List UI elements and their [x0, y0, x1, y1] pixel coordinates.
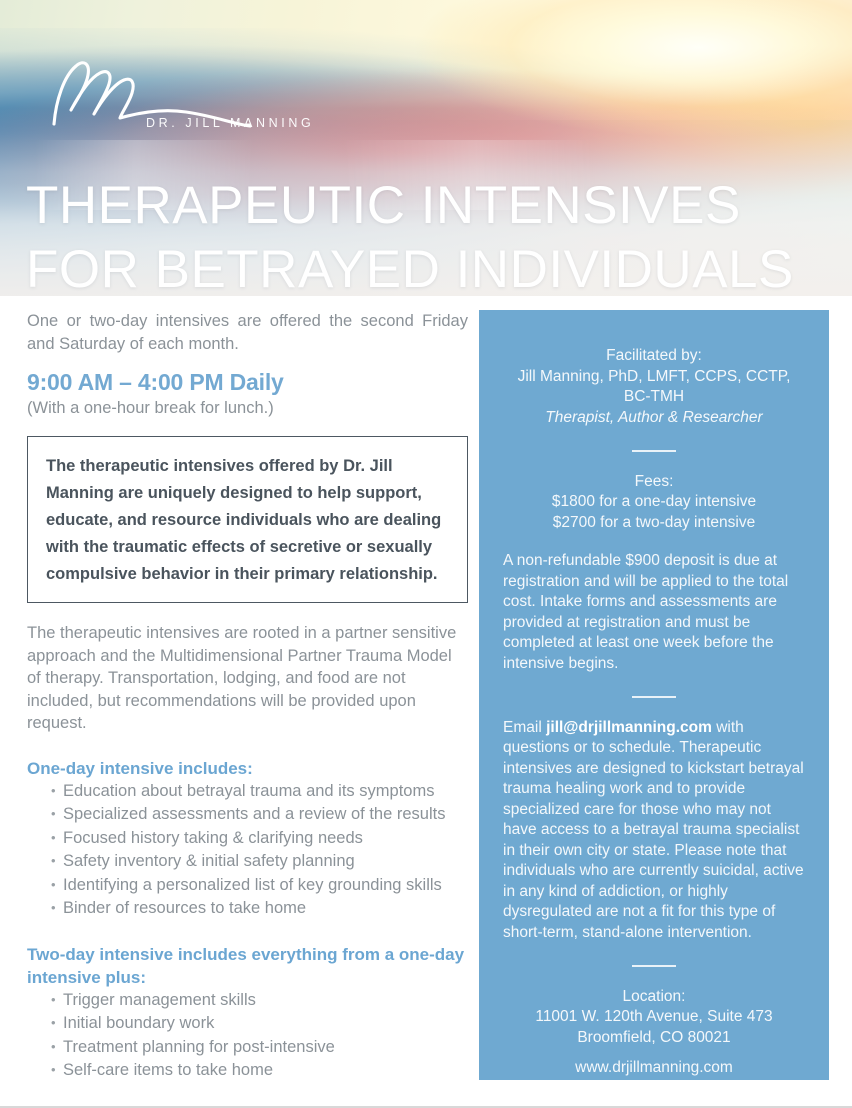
facilitator-name: Jill Manning, PhD, LMFT, CCPS, CCTP, BC-… [503, 367, 805, 408]
list-item: Safety inventory & initial safety planni… [51, 850, 468, 874]
email-paragraph: Email jill@drjillmanning.com with questi… [503, 718, 805, 944]
two-day-list: Trigger management skills Initial bounda… [27, 989, 468, 1083]
facilitated-label: Facilitated by: [503, 346, 805, 367]
spacer [503, 533, 805, 551]
address-line-1: 11001 W. 120th Avenue, Suite 473 [503, 1007, 805, 1028]
spacer [503, 1048, 805, 1058]
one-day-list: Education about betrayal trauma and its … [27, 780, 468, 921]
email-suffix: with questions or to schedule. Therapeut… [503, 719, 804, 941]
two-day-heading: Two-day intensive includes everything fr… [27, 943, 468, 989]
header-banner: DR. JILL MANNING THERAPEUTIC INTENSIVES … [0, 0, 852, 296]
intro-paragraph: One or two-day intensives are offered th… [27, 310, 468, 355]
list-item: Initial boundary work [51, 1012, 468, 1036]
one-day-heading: One-day intensive includes: [27, 757, 468, 780]
body-area: One or two-day intensives are offered th… [0, 296, 852, 1108]
location-label: Location: [503, 987, 805, 1008]
fee-one-day: $1800 for a one-day intensive [503, 492, 805, 513]
schedule-time: 9:00 AM – 4:00 PM Daily [27, 367, 468, 397]
callout-box: The therapeutic intensives offered by Dr… [27, 436, 468, 603]
flyer-page: DR. JILL MANNING THERAPEUTIC INTENSIVES … [0, 0, 852, 1108]
list-item: Focused history taking & clarifying need… [51, 827, 468, 851]
list-item: Identifying a personalized list of key g… [51, 874, 468, 898]
page-title: THERAPEUTIC INTENSIVES FOR BETRAYED INDI… [26, 174, 826, 296]
email-prefix: Email [503, 719, 546, 736]
info-panel: Facilitated by: Jill Manning, PhD, LMFT,… [479, 310, 829, 1080]
address-line-2: Broomfield, CO 80021 [503, 1028, 805, 1049]
list-item: Trigger management skills [51, 989, 468, 1013]
divider [632, 696, 676, 698]
facilitator-role: Therapist, Author & Researcher [503, 408, 805, 429]
list-item: Specialized assessments and a review of … [51, 803, 468, 827]
list-item: Education about betrayal trauma and its … [51, 780, 468, 804]
fee-two-day: $2700 for a two-day intensive [503, 513, 805, 534]
list-item: Binder of resources to take home [51, 897, 468, 921]
schedule-note: (With a one-hour break for lunch.) [27, 397, 468, 419]
divider [632, 450, 676, 452]
rooted-paragraph: The therapeutic intensives are rooted in… [27, 622, 468, 735]
divider [632, 965, 676, 967]
list-item: Treatment planning for post-intensive [51, 1036, 468, 1060]
fees-label: Fees: [503, 472, 805, 493]
email-address[interactable]: jill@drjillmanning.com [546, 719, 712, 736]
list-item: Self-care items to take home [51, 1059, 468, 1083]
callout-text: The therapeutic intensives offered by Dr… [46, 453, 449, 588]
left-column: One or two-day intensives are offered th… [27, 310, 468, 1083]
brand-logo: DR. JILL MANNING [38, 48, 288, 140]
deposit-paragraph: A non-refundable $900 deposit is due at … [503, 551, 805, 674]
brand-name: DR. JILL MANNING [146, 116, 314, 130]
website-link[interactable]: www.drjillmanning.com [503, 1058, 805, 1079]
